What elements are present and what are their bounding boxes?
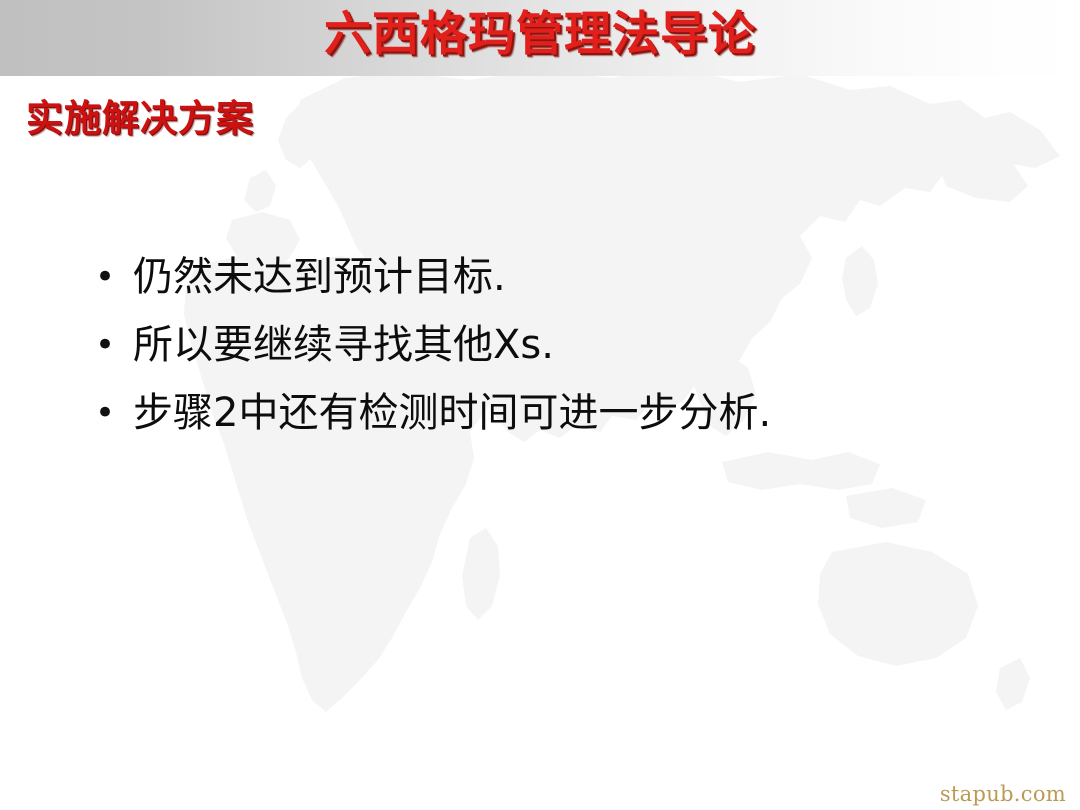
- list-item: • 仍然未达到预计目标.: [95, 243, 771, 311]
- site-watermark: stapub.com: [940, 782, 1066, 806]
- list-item: • 步骤2中还有检测时间可进一步分析.: [95, 379, 771, 447]
- section-subtitle: 实施解决方案: [26, 88, 254, 142]
- bullet-point-icon: •: [95, 243, 133, 311]
- bullet-point-icon: •: [95, 379, 133, 447]
- page-title: 六西格玛管理法导论: [0, 4, 1080, 66]
- list-item-label: 步骤2中还有检测时间可进一步分析.: [133, 379, 771, 447]
- list-item-label: 所以要继续寻找其他Xs.: [133, 311, 554, 379]
- bullet-point-icon: •: [95, 311, 133, 379]
- list-item: • 所以要继续寻找其他Xs.: [95, 311, 771, 379]
- bullet-list: • 仍然未达到预计目标. • 所以要继续寻找其他Xs. • 步骤2中还有检测时间…: [95, 243, 771, 447]
- presentation-slide: 六西格玛管理法导论 实施解决方案 • 仍然未达到预计目标. • 所以要继续寻找其…: [0, 0, 1080, 810]
- list-item-label: 仍然未达到预计目标.: [133, 243, 506, 311]
